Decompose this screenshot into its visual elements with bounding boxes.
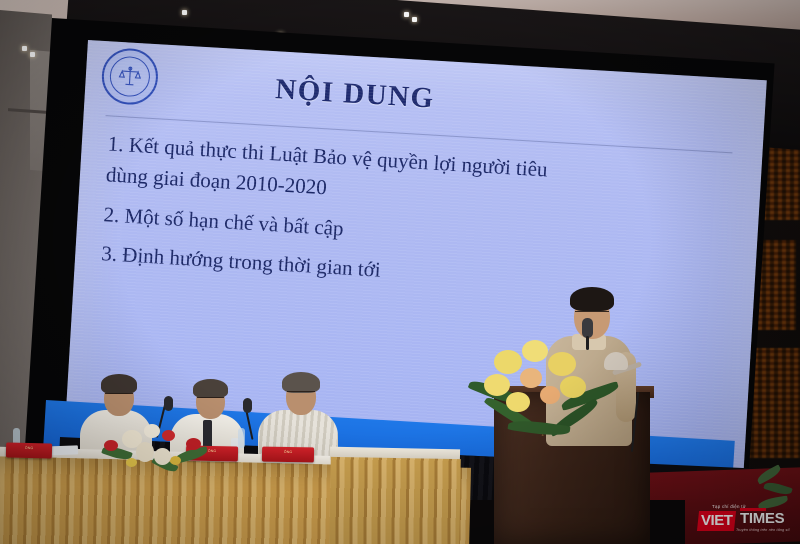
panelist-glasses — [105, 393, 133, 399]
foliage — [755, 464, 782, 484]
nameplate-line: ÔNG — [284, 450, 292, 454]
flower-peach — [520, 368, 542, 388]
watermark-brand-secondary: TIMES — [740, 511, 784, 526]
panelist-hair — [101, 374, 137, 394]
panelist-glasses — [287, 391, 315, 397]
speaker-glasses — [575, 311, 609, 317]
panelist-glasses — [197, 397, 224, 403]
flower-yellow — [560, 376, 586, 398]
slide-title: NỘI DUNG — [274, 73, 435, 115]
flower-yellow — [494, 350, 522, 374]
watermark-brand-box: VIET — [697, 511, 736, 531]
slide-body: 1. Kết quả thực thi Luật Bảo vệ quyền lợ… — [100, 129, 748, 314]
water-bottle — [238, 428, 245, 448]
watermark-kicker: Tạp chí điện tử — [712, 504, 746, 509]
speaker-hair — [570, 287, 614, 311]
panel-table-skirt-right — [329, 457, 461, 544]
ceiling-spotlight — [22, 46, 27, 51]
nameplate: ÔNG — [262, 447, 314, 463]
ceiling-spotlight — [412, 17, 417, 22]
panelist-hair — [282, 372, 320, 393]
table-microphone-head — [243, 398, 252, 413]
flower-yellow — [170, 456, 181, 465]
ceiling-spotlight — [404, 12, 409, 17]
flower-red — [186, 438, 201, 450]
nameplate-line: ÔNG — [25, 446, 33, 450]
watermark-tagline: Truyền thông trên nền tảng số — [736, 528, 790, 532]
flower-white — [154, 448, 171, 465]
watermark-brand-primary: VIET — [701, 513, 732, 528]
panelist-hair — [193, 379, 228, 398]
ceiling-spotlight — [182, 10, 187, 15]
nameplate: ÔNG — [6, 442, 52, 458]
table-flower-arrangement — [100, 418, 216, 474]
conference-photo: NỘI DUNG 1. Kết quả thực thi Luật Bảo vệ… — [0, 0, 800, 544]
flower-yellow — [484, 374, 510, 396]
foliage — [763, 480, 792, 497]
flower-yellow — [506, 392, 530, 412]
watermark-viet-times: Tạp chí điện tử VIET TIMES Truyền thông … — [696, 504, 792, 538]
flower-yellow — [126, 458, 137, 467]
flower-red — [104, 440, 118, 451]
flower-peach — [540, 386, 560, 404]
ceiling-spotlight — [30, 52, 35, 57]
flower-yellow — [522, 340, 548, 362]
scales-of-justice-emblem-icon — [100, 47, 159, 106]
flower-white — [144, 424, 160, 438]
flower-red — [162, 430, 175, 441]
flower-white — [136, 442, 154, 462]
emblem-inner-ring — [109, 55, 151, 97]
podium-flower-arrangement — [472, 330, 622, 448]
flower-yellow — [548, 352, 576, 376]
table-microphone-head — [164, 396, 173, 411]
